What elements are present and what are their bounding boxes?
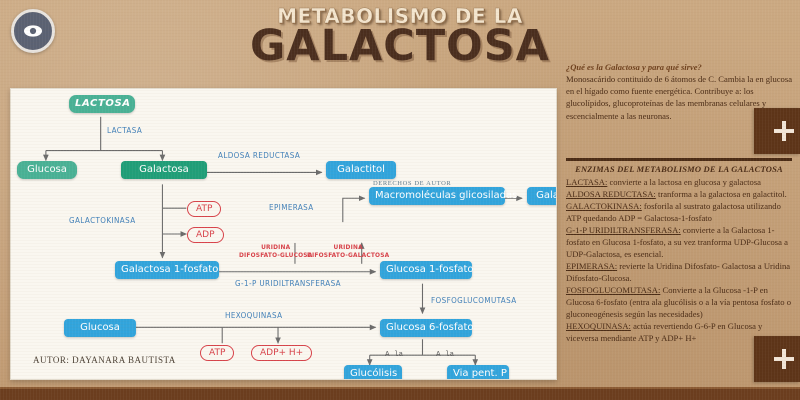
title-line-2: GALACTOSA: [230, 25, 570, 68]
diagram-canvas: LACTOSA Glucosa Galactosa Galactitol Mac…: [10, 88, 557, 380]
label-g1p-uridiltransferasa: G-1-P URIDILTRANSFERASA: [235, 279, 341, 288]
enzyme-name: EPIMERASA:: [566, 261, 617, 271]
label-a-la-2: A la: [436, 351, 454, 359]
label-lactasa: LACTASA: [107, 126, 142, 135]
enzyme-entry: G-1-P URIDILTRANSFERASA: convierte a la …: [566, 224, 792, 260]
node-glucolisis[interactable]: Glucólisis: [344, 365, 402, 380]
cofactor-atp-1[interactable]: ATP: [187, 201, 221, 217]
poster-title: METABOLISMO DE LA GALACTOSA: [230, 6, 570, 68]
node-via-pent-p[interactable]: Via pent. P: [447, 365, 509, 380]
node-galactosa-1-fosfato[interactable]: Galactosa 1-fosfato: [115, 261, 219, 279]
sidebar-question-heading: ¿Qué es la Galactosa y para qué sirve?: [566, 62, 792, 72]
enzyme-entry: EPIMERASA: revierte la Uridina Difosfato…: [566, 260, 792, 284]
enzyme-description: tranforma a la galactosa en galactitol.: [656, 189, 787, 199]
expand-button-top[interactable]: [754, 108, 800, 154]
enzyme-name: G-1-P URIDILTRANSFERASA:: [566, 225, 681, 235]
label-udp-galactosa-line1: URIDINA: [334, 243, 363, 251]
node-galactitol[interactable]: Galactitol: [326, 161, 396, 179]
expand-button-bottom[interactable]: [754, 336, 800, 382]
author-credit: AUTOR: DAYANARA BAUTISTA: [33, 355, 176, 365]
node-galactosa[interactable]: Galactosa: [121, 161, 207, 179]
label-udp-glucosa-line2: DIFOSFATO-GLUCOSA: [239, 251, 312, 259]
poster-background: METABOLISMO DE LA GALACTOSA: [0, 0, 800, 400]
label-a-la-1: A la: [385, 351, 403, 359]
enzyme-entry: GALACTOKINASA: fosforila al sustrato gal…: [566, 200, 792, 224]
label-epimerasa: EPIMERASA: [269, 203, 314, 212]
plus-icon-vertical: [782, 349, 786, 369]
label-galactokinasa: GALACTOKINASA: [69, 216, 136, 225]
plus-icon-vertical: [782, 121, 786, 141]
enzyme-entry: FOSFOGLUCOMUTASA: Convierte a la Glucosa…: [566, 284, 792, 320]
node-galactosa-right[interactable]: Galactosa: [527, 187, 557, 205]
sidebar-divider: [566, 158, 792, 161]
copyright-watermark: DERECHOS DE AUTOR: [373, 180, 451, 187]
node-glucosa-6-fosfato[interactable]: Glucosa 6-fosfato: [380, 319, 472, 337]
node-lactosa[interactable]: LACTOSA: [69, 95, 135, 113]
node-macromoleculas[interactable]: Macromoléculas glicosiladas: [369, 187, 505, 205]
node-glucosa-1-fosfato[interactable]: Glucosa 1-fosfato: [380, 261, 472, 279]
cofactor-atp-2[interactable]: ATP: [200, 345, 234, 361]
enzyme-name: LACTASA:: [566, 177, 607, 187]
enzyme-description: convierte a la lactosa en glucosa y gala…: [607, 177, 761, 187]
enzyme-name: HEXOQUINASA:: [566, 321, 631, 331]
sidebar-enzyme-list: LACTASA: convierte a la lactosa en gluco…: [566, 176, 792, 344]
label-udp-galactosa-line2: DIFOSFATO-GALACTOSA: [307, 251, 389, 259]
enzyme-name: FOSFOGLUCOMUTASA:: [566, 285, 660, 295]
enzyme-name: GALACTOKINASA:: [566, 201, 642, 211]
node-glucosa-top[interactable]: Glucosa: [17, 161, 77, 179]
cofactor-adp-1[interactable]: ADP: [187, 227, 224, 243]
label-aldosa-reductasa: ALDOSA REDUCTASA: [218, 151, 300, 160]
node-glucosa-bottom[interactable]: Glucosa: [64, 319, 136, 337]
sidebar-section-title: ENZIMAS DEL METABOLISMO DE LA GALACTOSA: [566, 164, 792, 174]
enzyme-entry: LACTASA: convierte a la lactosa en gluco…: [566, 176, 792, 188]
enzyme-entry: ALDOSA REDUCTASA: tranforma a la galacto…: [566, 188, 792, 200]
footer-bar: [0, 387, 800, 400]
label-udp-glucosa-line1: URIDINA: [261, 243, 290, 251]
cofactor-adp-h-2[interactable]: ADP+ H+: [251, 345, 312, 361]
label-hexoquinasa: HEXOQUINASA: [225, 311, 282, 320]
eye-icon[interactable]: [11, 9, 55, 53]
enzyme-name: ALDOSA REDUCTASA:: [566, 189, 656, 199]
label-fosfoglucomutasa: FOSFOGLUCOMUTASA: [431, 296, 517, 305]
